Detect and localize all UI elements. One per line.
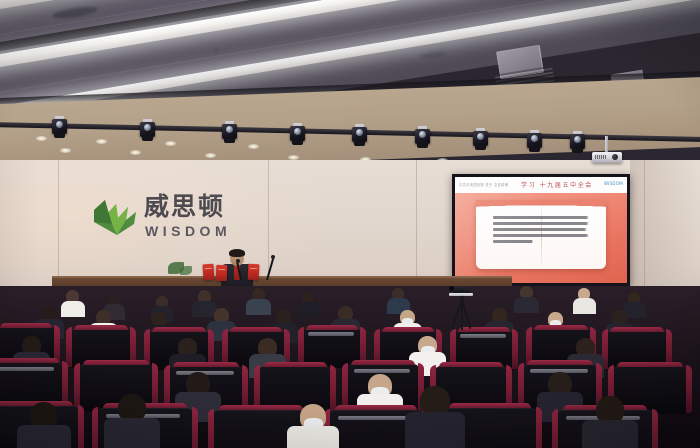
recessed-downlight [36, 136, 47, 141]
stage-light-fixture [352, 124, 367, 146]
stage-light-fixture [140, 119, 155, 141]
microphone-head-icon [271, 255, 275, 259]
recessed-downlight [60, 148, 71, 153]
ceiling-projector [592, 150, 622, 163]
recessed-downlight [130, 150, 141, 155]
slide-text-line [493, 240, 534, 243]
slide-text-line [493, 216, 590, 219]
camcorder-body [453, 286, 470, 293]
logo-chinese-text: 威思顿 [144, 192, 225, 222]
projector-vent [595, 155, 606, 159]
stage-light-fixture [570, 131, 585, 153]
slide-body [455, 193, 627, 283]
stage-light-fixture [415, 126, 430, 148]
stage-light-lens [144, 124, 151, 131]
stage-light-lens [356, 129, 363, 136]
stage-light-fixture [222, 121, 237, 143]
slide-header-left-text: 中共中央国务院 关于 文件精神 [459, 182, 508, 187]
stage-light-lens [574, 136, 581, 143]
conference-hall-photo: 威思顿 WISDOM 中共中央国务院 关于 文件精神 学习 十九届五中全会 WI… [0, 0, 700, 448]
seated-audience [0, 286, 700, 448]
recessed-downlight [248, 144, 259, 149]
desk-plant [180, 266, 192, 275]
recessed-downlight [205, 153, 216, 158]
slide-header-brand: WISDOM [604, 181, 623, 186]
slide-text-line [493, 222, 590, 225]
slide-text-block [493, 216, 590, 246]
red-booklet [202, 264, 214, 281]
slide-header-title: 学习 十九届五中全会 [521, 180, 593, 189]
slide-header-bar: 中共中央国务院 关于 文件精神 学习 十九届五中全会 WISDOM [455, 177, 627, 194]
wall-seam [58, 160, 59, 290]
projector-mount-pole [605, 136, 608, 152]
stage-light-fixture [290, 123, 305, 145]
video-camera-tripod [448, 286, 474, 330]
stage-light-lens [56, 121, 63, 128]
stage-light-lens [531, 135, 538, 142]
recessed-downlight [96, 139, 107, 144]
recessed-downlight [165, 141, 176, 146]
screen-surface: 中共中央国务院 关于 文件精神 学习 十九届五中全会 WISDOM [455, 177, 627, 283]
logo-english-text: WISDOM [145, 223, 231, 239]
stage-light-lens [226, 126, 233, 133]
stage-light-lens [477, 133, 484, 140]
stage-light-lens [419, 131, 426, 138]
open-book-graphic [476, 201, 607, 269]
presenter-hair [229, 249, 245, 257]
wall-seam [416, 160, 417, 280]
wall-seam [268, 160, 269, 280]
camera-lens-icon [449, 286, 454, 291]
slide-text-line [493, 234, 590, 237]
ceiling-fixture-dot [214, 48, 218, 52]
red-booklet [248, 264, 260, 281]
microphone-head-icon [236, 259, 240, 263]
stage-light-fixture [527, 130, 542, 152]
stage-light-fixture [52, 116, 67, 138]
projector-lens-icon [612, 154, 618, 160]
projection-screen: 中共中央国务院 关于 文件精神 学习 十九届五中全会 WISDOM [452, 174, 630, 286]
stage-light-fixture [473, 128, 488, 150]
company-logo: 威思顿 WISDOM [92, 192, 242, 248]
stage-light-lens [294, 128, 301, 135]
slide-text-line [493, 228, 588, 231]
red-booklet [216, 265, 228, 281]
wisdom-mark-icon [92, 194, 138, 236]
